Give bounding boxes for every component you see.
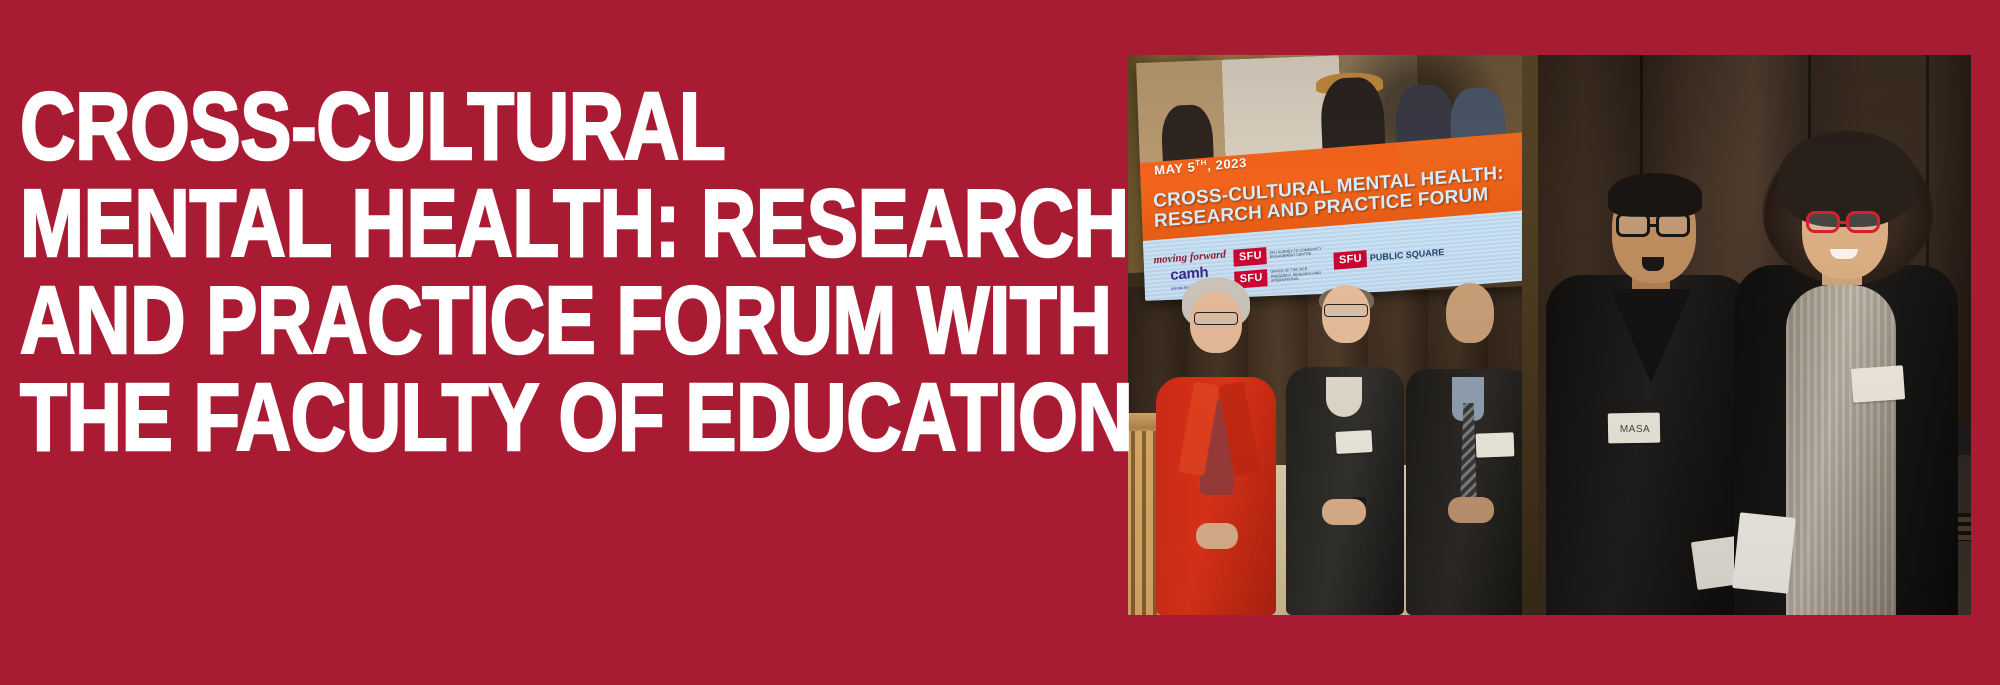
person-suit-tie-head bbox=[1446, 283, 1494, 343]
banner-headline: CROSS-CULTURAL MENTAL HEALTH: RESEARCH A… bbox=[20, 78, 1100, 466]
headline-line-3: AND PRACTICE FORUM WITH bbox=[20, 272, 884, 369]
person-curly-hair-glasses-left bbox=[1806, 211, 1840, 233]
person-glasses-cardigan-vneck bbox=[1610, 289, 1692, 409]
person-glasses-cardigan-glasses-bridge bbox=[1649, 224, 1658, 227]
person-red-blazer-hands bbox=[1196, 523, 1238, 549]
screen-date-superscript: TH bbox=[1195, 158, 1207, 168]
photo-forum-group: MAY 5TH, 2023 CROSS-CULTURAL MENTAL HEAL… bbox=[1128, 55, 1522, 615]
person-curly-hair-red-glasses bbox=[1734, 115, 1958, 615]
person-suit-tie bbox=[1406, 243, 1522, 615]
headline-line-2: MENTAL HEALTH: RESEARCH bbox=[20, 175, 884, 272]
headline-line-4: THE FACULTY OF EDUCATION bbox=[20, 369, 884, 466]
person-glasses-cardigan-glasses-right bbox=[1656, 213, 1690, 237]
photo-strip: MAY 5TH, 2023 CROSS-CULTURAL MENTAL HEAL… bbox=[1128, 55, 1971, 615]
person-curly-hair-top bbox=[1778, 131, 1916, 227]
person-suit-tie-name-tag bbox=[1476, 432, 1515, 457]
person-suit-tie-hands bbox=[1448, 497, 1494, 523]
person-glasses-cardigan: MASA bbox=[1546, 125, 1752, 615]
person-red-blazer bbox=[1150, 255, 1282, 615]
person-glasses-cardigan-hair bbox=[1608, 173, 1702, 217]
person-curly-hair-name-tag bbox=[1851, 365, 1905, 403]
person-curly-hair-glasses-right bbox=[1846, 211, 1880, 233]
person-red-blazer-glasses bbox=[1194, 312, 1238, 325]
person-black-sweater bbox=[1286, 243, 1404, 615]
person-curly-hair-glasses-bridge bbox=[1839, 221, 1848, 224]
person-black-sweater-collar bbox=[1326, 377, 1362, 417]
person-red-blazer-torso bbox=[1156, 377, 1276, 615]
event-banner: CROSS-CULTURAL MENTAL HEALTH: RESEARCH A… bbox=[0, 0, 2000, 685]
person-glasses-cardigan-name-tag-text: MASA bbox=[1610, 424, 1660, 435]
person-curly-hair-sweater bbox=[1786, 285, 1896, 615]
person-black-sweater-hands bbox=[1322, 499, 1366, 525]
person-curly-hair-sweater-knit bbox=[1786, 285, 1896, 615]
person-glasses-cardigan-glasses-left bbox=[1616, 213, 1650, 237]
person-black-sweater-torso bbox=[1286, 367, 1404, 615]
photo-attendee-pair: MASA bbox=[1522, 55, 1971, 615]
person-glasses-cardigan-goatee bbox=[1642, 257, 1664, 271]
wall-edge-strip bbox=[1522, 55, 1538, 615]
person-black-sweater-name-tag bbox=[1335, 430, 1372, 454]
person-suit-tie-torso bbox=[1406, 369, 1522, 615]
person-black-sweater-glasses bbox=[1324, 304, 1368, 317]
person-curly-hair-paper bbox=[1732, 512, 1796, 593]
headline-line-1: CROSS-CULTURAL bbox=[20, 78, 884, 175]
